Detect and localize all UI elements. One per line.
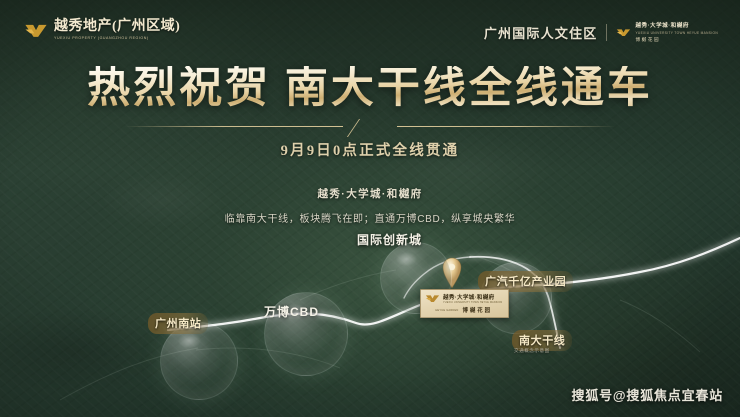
divider-slash (347, 119, 397, 137)
yuexiu-logo-icon (24, 22, 48, 39)
project-badge[interactable]: 越秀·大学城·和樾府 YUEXIU UNIVERSITY TOWN HEYUE … (616, 21, 718, 43)
header-tagline: 广州国际人文住区 (484, 23, 598, 42)
yuexiu-mini-logo-icon (616, 27, 631, 38)
map-label-innovation-city[interactable]: 国际创新城 (357, 231, 422, 248)
divider-right (397, 126, 615, 127)
project-badge-title: 越秀·大学城·和樾府 (635, 21, 718, 29)
page-subtitle: 9月9日0点正式全线贯通 (0, 139, 740, 160)
watermark: 搜狐号@搜狐焦点宜春站 (572, 385, 723, 404)
map-label-nanda-artery[interactable]: 南大干线 (512, 330, 572, 351)
header-divider (606, 24, 607, 41)
title-divider (125, 120, 615, 136)
minor-roads (60, 255, 700, 400)
project-plaque[interactable]: 越秀·大学城·和樾府 YUEXIU UNIVERSITY TOWN HEYUE … (420, 289, 509, 318)
brand-logo[interactable]: 越秀地产(广州区域) YUEXIU PROPERTY (GUANGZHOU RE… (24, 20, 180, 41)
header-bar: 越秀地产(广州区域) YUEXIU PROPERTY (GUANGZHOU RE… (0, 0, 740, 58)
node-sphere-guangzhou-south (160, 322, 238, 400)
map-note-nanda-artery: 交通概念示意图 (514, 348, 550, 354)
header-right-group: 广州国际人文住区 越秀·大学城·和樾府 YUEXIU UNIVERSITY TO… (484, 21, 718, 43)
plaque-garden-en: HEYUE GARDEN (435, 309, 458, 312)
poster-canvas: 广州南站 万博CBD 国际创新城 广汽千亿产业园 南大干线 交通概念示意图 越秀… (0, 0, 740, 417)
brand-name-en: YUEXIU PROPERTY (GUANGZHOU REGION) (54, 37, 180, 41)
project-badge-title-en: YUEXIU UNIVERSITY TOWN HEYUE MANSION (635, 31, 718, 35)
plaque-garden-cn: 博樾花园 (463, 306, 493, 314)
map-label-guangzhou-south[interactable]: 广州南站 (148, 313, 208, 334)
page-title: 热烈祝贺 南大干线全线通车 (87, 66, 653, 111)
project-badge-garden: 博樾花园 (635, 37, 718, 43)
main-route-line (168, 238, 740, 348)
plaque-subtitle-en: YUEXIU UNIVERSITY TOWN HEYUE MANSION (443, 302, 502, 304)
map-label-wanbo-cbd[interactable]: 万博CBD (264, 303, 319, 320)
project-name: 越秀·大学城·和樾府 (0, 186, 740, 201)
project-pin-icon (443, 258, 461, 288)
node-sphere-gac-park (480, 262, 552, 334)
project-tagline: 临靠南大干线，板块腾飞在即；直通万博CBD，纵享城央繁华 (0, 210, 740, 225)
map-label-gac-park[interactable]: 广汽千亿产业园 (478, 271, 573, 292)
yuexiu-logo-icon (425, 293, 440, 304)
brand-name-cn: 越秀地产(广州区域) (54, 20, 180, 34)
hero-section: 热烈祝贺 南大干线全线通车 9月9日0点正式全线贯通 越秀·大学城·和樾府 临靠… (0, 66, 740, 225)
divider-left (125, 126, 343, 127)
plaque-title: 越秀·大学城·和樾府 (443, 293, 502, 301)
node-sphere-innovation-city (380, 242, 452, 314)
node-sphere-wanbo-cbd (264, 292, 348, 376)
